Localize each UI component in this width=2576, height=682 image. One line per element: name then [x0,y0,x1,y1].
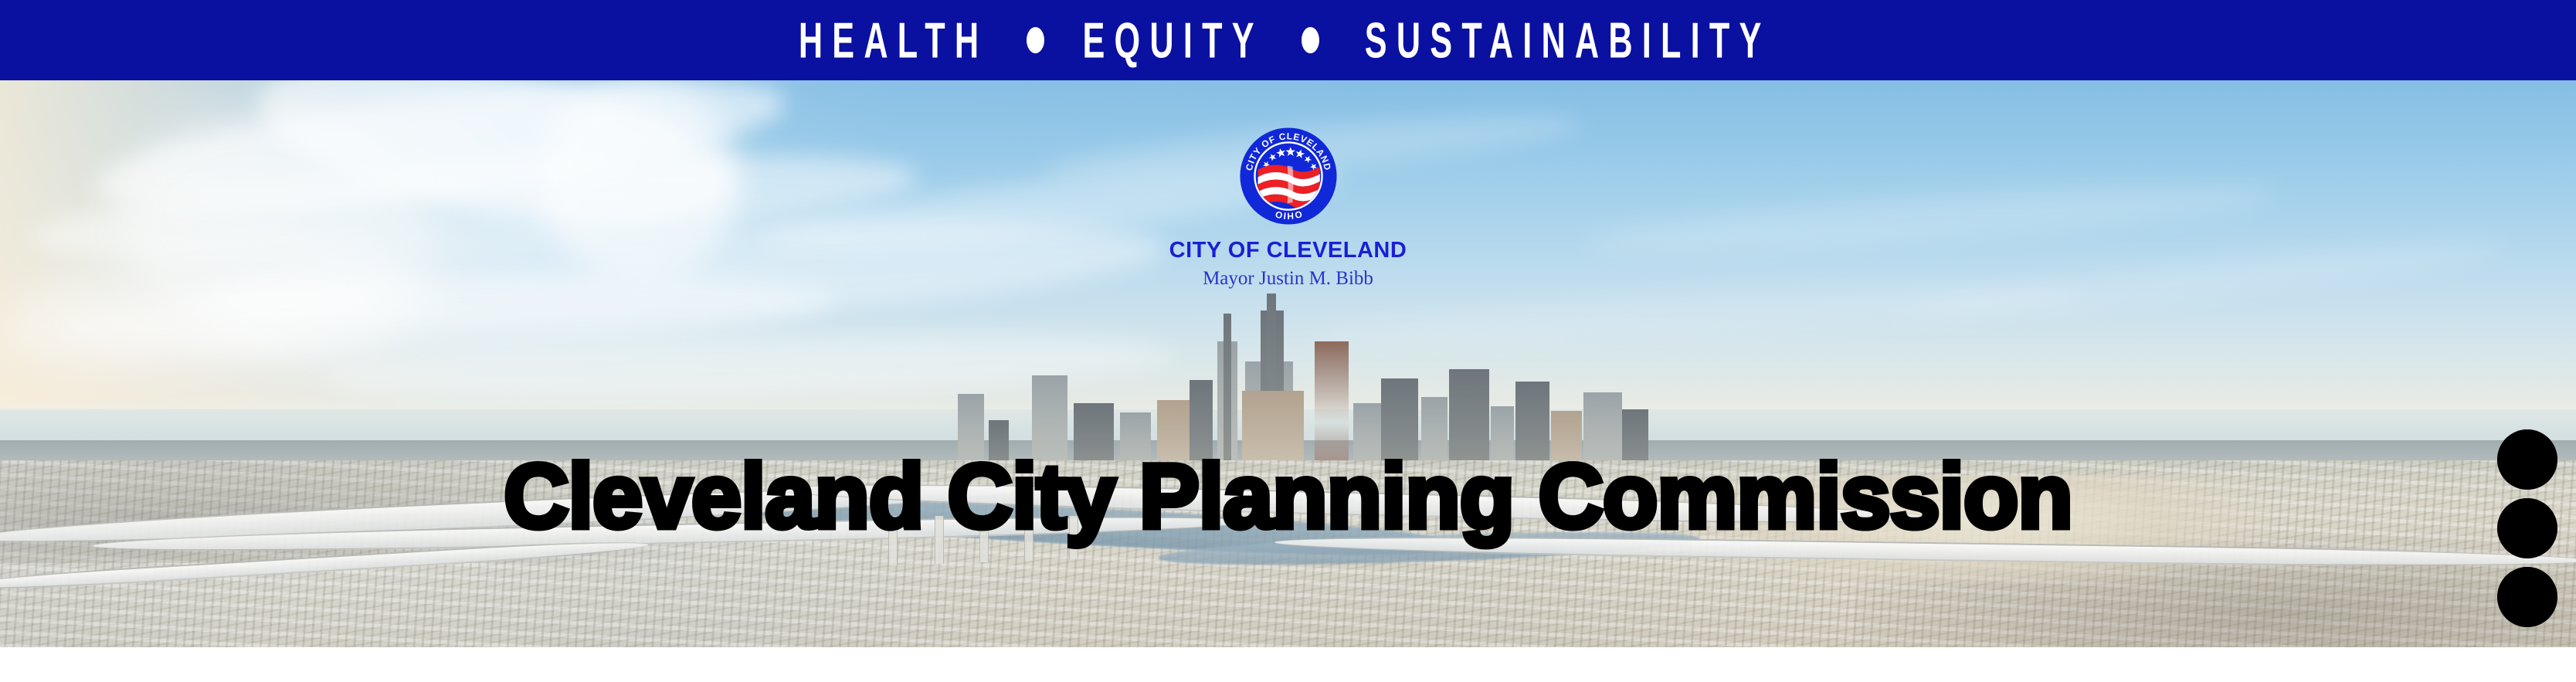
youtube-link[interactable] [2497,429,2557,490]
tagline-banner-inner: HEALTH EQUITY SUSTAINABILITY [792,22,1784,58]
tagline-word-sustainability: SUSTAINABILITY [1365,15,1771,65]
tagline-word-equity: EQUITY [1082,15,1263,65]
tagline-word-health: HEALTH [798,15,987,65]
facebook-link[interactable] [2497,567,2557,627]
instagram-icon [2497,498,2557,558]
bullet-dot-icon [1302,27,1319,53]
hero-photo: CITY OF CLEVELAND OHIO CITY OF CLEVELAND… [0,80,2576,647]
youtube-icon [2497,429,2557,490]
page-root: HEALTH EQUITY SUSTAINABILITY [0,0,2576,682]
facebook-icon [2497,567,2557,627]
bullet-dot-icon [1027,27,1044,53]
tagline-banner: HEALTH EQUITY SUSTAINABILITY [0,0,2576,80]
page-title: Cleveland City Planning Commission [13,451,2564,542]
instagram-link[interactable] [2497,498,2557,558]
page-title-text: Cleveland City Planning Commission [504,451,2072,542]
bottom-white-strip [0,647,2576,682]
social-links-rail [2497,429,2557,627]
